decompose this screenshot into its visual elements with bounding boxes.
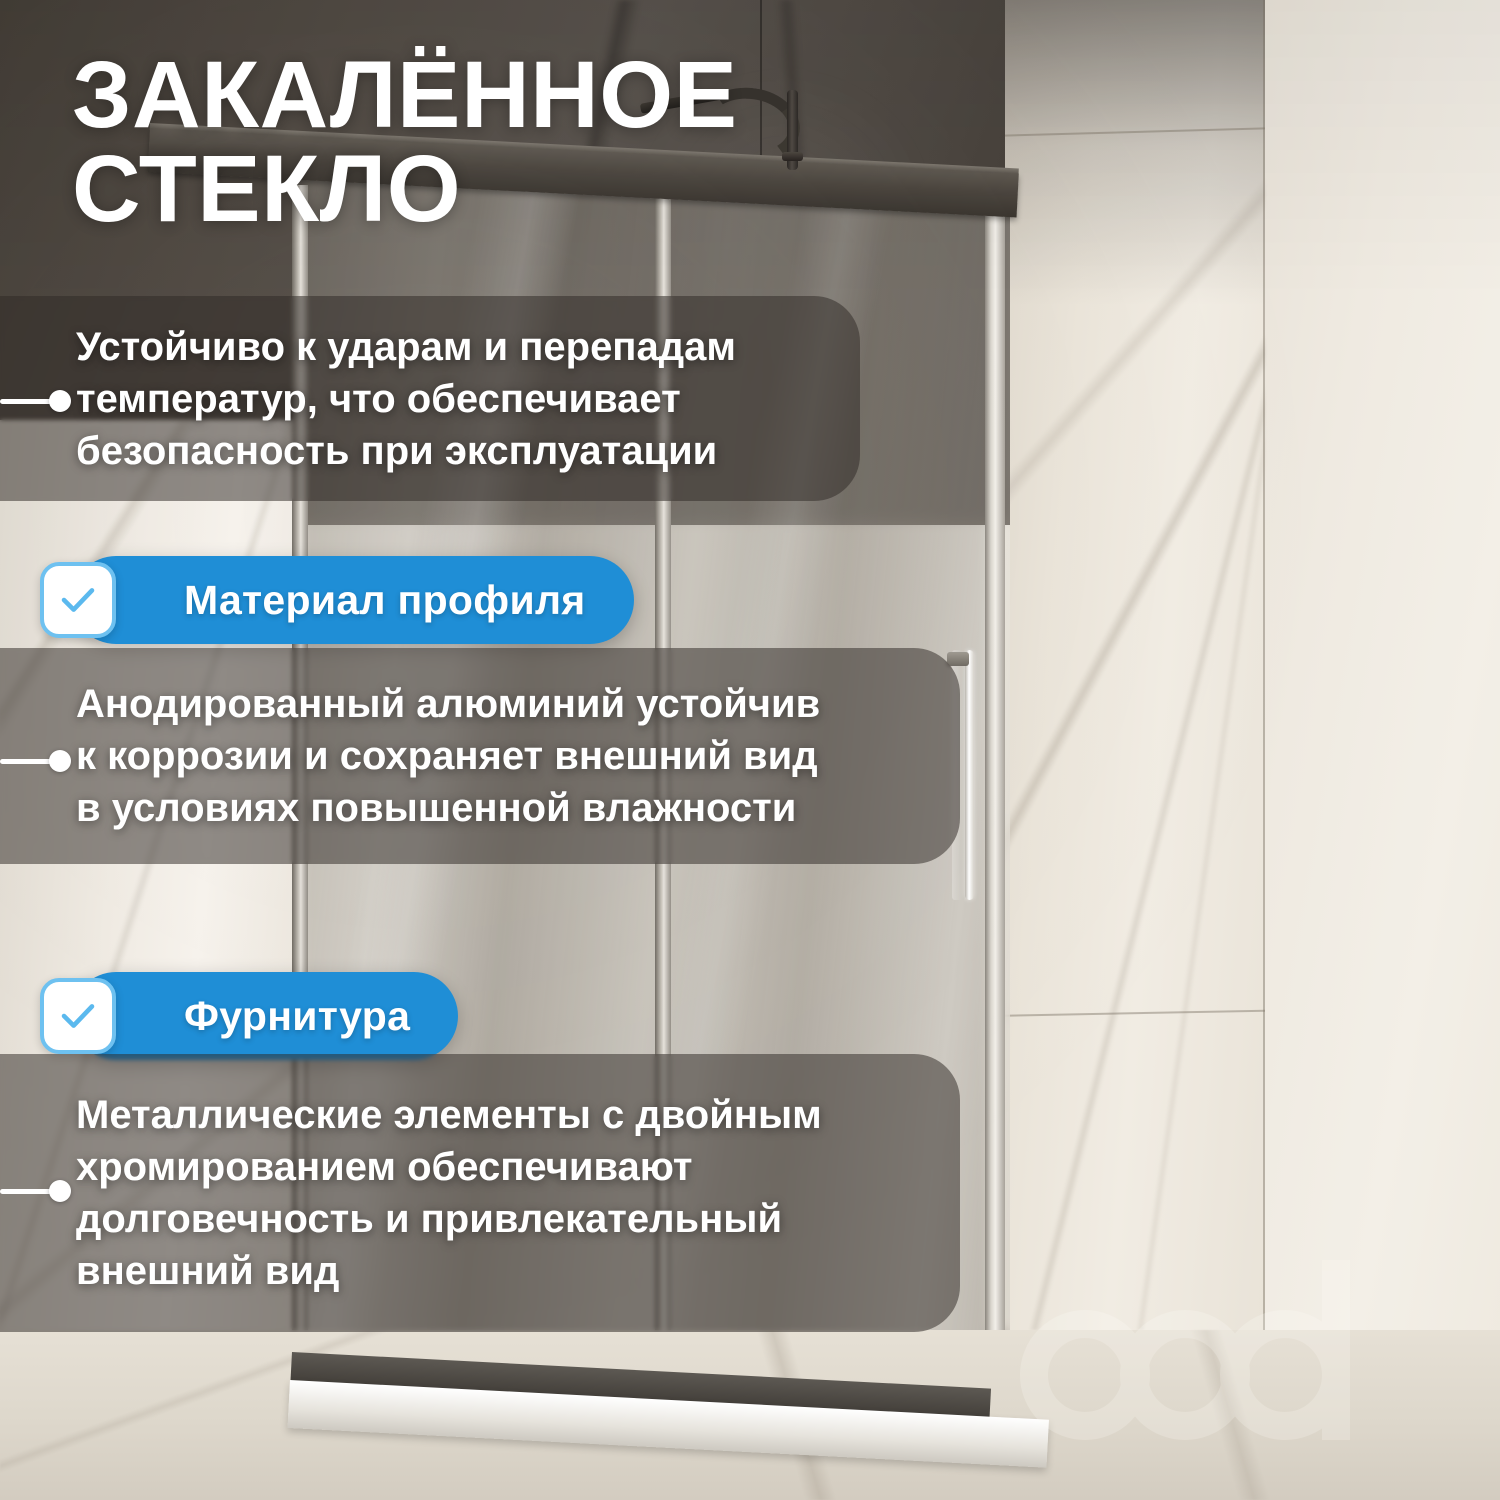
feature-card-profile-material: Анодированный алюминий устойчив к корроз… bbox=[0, 648, 960, 864]
feature-body-text: Анодированный алюминий устойчив к корроз… bbox=[76, 678, 820, 834]
bullet-dot bbox=[49, 390, 71, 412]
bullet-marker bbox=[0, 750, 71, 772]
bullet-line bbox=[0, 1189, 52, 1194]
bullet-dot bbox=[49, 750, 71, 772]
feature-body-text: Устойчиво к ударам и перепадам температу… bbox=[76, 321, 736, 477]
badge-label: Материал профиля bbox=[184, 577, 586, 624]
page-title: ЗАКАЛЁННОЕ СТЕКЛО bbox=[72, 48, 972, 236]
badge-profile-material[interactable]: Материал профиля bbox=[72, 556, 634, 644]
bullet-dot bbox=[49, 1180, 71, 1202]
feature-card-tempered-glass: Устойчиво к ударам и перепадам температу… bbox=[0, 296, 860, 501]
bullet-line bbox=[0, 399, 52, 404]
bullet-marker bbox=[0, 390, 71, 412]
feature-card-hardware: Металлические элементы с двойным хромиро… bbox=[0, 1054, 960, 1332]
badge-label: Фурнитура bbox=[184, 993, 410, 1040]
bullet-marker bbox=[0, 1180, 71, 1202]
checkbox-checked-icon[interactable] bbox=[40, 562, 116, 638]
feature-body-text: Металлические элементы с двойным хромиро… bbox=[76, 1089, 822, 1297]
checkbox-checked-icon[interactable] bbox=[40, 978, 116, 1054]
bullet-line bbox=[0, 759, 52, 764]
content-overlay: ЗАКАЛЁННОЕ СТЕКЛО Устойчиво к ударам и п… bbox=[0, 0, 1500, 1500]
badge-hardware[interactable]: Фурнитура bbox=[72, 972, 458, 1060]
